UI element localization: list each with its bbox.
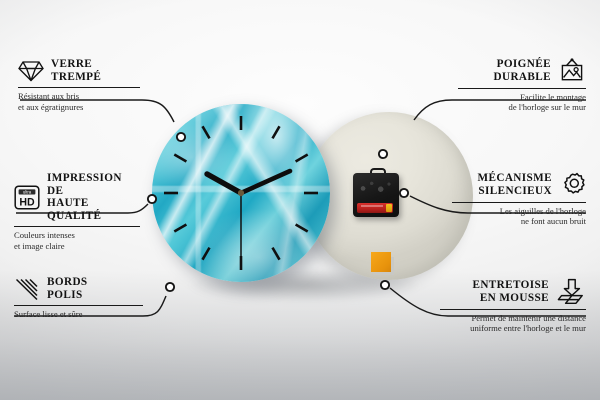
ultra-hd-badge-icon: ultra HD (14, 185, 40, 210)
title-line-2: EN MOUSSE (480, 292, 549, 304)
subtitle-line-1: Couleurs intenses (14, 230, 75, 240)
feature-subtitle: Permet de maintenir une distance uniform… (440, 313, 586, 334)
feature-divider (440, 309, 586, 310)
subtitle-line-1: Surface lisse et sûre (14, 309, 83, 319)
feature-mecanisme-silencieux: MÉCANISME SILENCIEUX Les aiguilles de l'… (452, 172, 586, 227)
quartz-movement (353, 173, 399, 217)
title-line-1: MÉCANISME (478, 172, 552, 184)
title-line-1: IMPRESSION DE (47, 172, 122, 197)
battery-positive-terminal (386, 204, 392, 212)
badge-small-text: ultra (23, 189, 32, 194)
foam-spacer-pad (371, 252, 391, 272)
feature-subtitle: Résistant aux bris et aux égratignures (18, 91, 140, 112)
feature-title-row: BORDS POLIS (14, 276, 143, 301)
feature-entretoise-en-mousse: ENTRETOISE EN MOUSSE Permet de maintenir… (440, 278, 586, 334)
battery (357, 203, 393, 213)
hanging-picture-frame-icon (558, 58, 586, 84)
gear-icon (559, 172, 586, 198)
title-line-2: HAUTE QUALITÉ (47, 197, 101, 222)
feature-title-text: MÉCANISME SILENCIEUX (478, 172, 552, 197)
feature-subtitle: Couleurs intenses et image claire (14, 230, 140, 251)
subtitle-line-1: Permet de maintenir une distance (471, 313, 586, 323)
title-line-1: POIGNÉE (497, 58, 551, 70)
feature-title-text: BORDS POLIS (47, 276, 88, 301)
subtitle-line-2: uniforme entre l'horloge et le mur (470, 323, 586, 333)
subtitle-line-2: et aux égratignures (18, 102, 83, 112)
subtitle-line-1: Résistant aux bris (18, 91, 79, 101)
feature-title-row: POIGNÉE DURABLE (458, 58, 586, 84)
subtitle-line-2: et image claire (14, 241, 65, 251)
diamond-icon (18, 59, 44, 83)
infographic-canvas: VERRE TREMPÉ Résistant aux bris et aux é… (0, 0, 600, 400)
feature-subtitle: Surface lisse et sûre (14, 309, 143, 319)
clock-center-cap (238, 190, 244, 196)
feature-impression-haute-qualite: ultra HD IMPRESSION DE HAUTE QUALITÉ Cou… (14, 172, 140, 251)
feature-subtitle: Facilite le montage de l'horloge sur le … (458, 92, 586, 113)
feature-divider (458, 88, 586, 89)
movement-detail (358, 178, 394, 196)
title-line-1: BORDS (47, 276, 88, 288)
feature-title-text: POIGNÉE DURABLE (493, 58, 551, 83)
title-line-2: TREMPÉ (51, 71, 101, 83)
feature-divider (14, 226, 140, 227)
feature-verre-trempe: VERRE TREMPÉ Résistant aux bris et aux é… (18, 58, 140, 112)
feature-title-row: ENTRETOISE EN MOUSSE (440, 278, 586, 305)
clock-hand-hour (207, 174, 241, 193)
feature-title-text: IMPRESSION DE HAUTE QUALITÉ (47, 172, 140, 222)
title-line-2: SILENCIEUX (478, 185, 552, 197)
feature-poignee-durable: POIGNÉE DURABLE Facilite le montage de l… (458, 58, 586, 113)
battery-label-stripe (361, 205, 383, 207)
title-line-1: ENTRETOISE (472, 279, 549, 291)
feature-divider (14, 305, 143, 306)
feature-divider (18, 87, 140, 88)
feature-divider (452, 202, 586, 203)
feature-bords-polis: BORDS POLIS Surface lisse et sûre (14, 276, 143, 320)
clock-hand-minute (241, 171, 290, 193)
subtitle-line-2: ne font aucun bruit (521, 216, 586, 226)
bevel-edge-lines-icon (14, 277, 40, 301)
clock-hands-and-ticks (152, 104, 330, 282)
feature-title-row: VERRE TREMPÉ (18, 58, 140, 83)
badge-large-text: HD (19, 196, 35, 208)
title-line-2: DURABLE (493, 71, 551, 83)
subtitle-line-1: Facilite le montage (520, 92, 586, 102)
feature-title-text: VERRE TREMPÉ (51, 58, 101, 83)
foam-spacer-arrow-icon (556, 278, 586, 305)
title-line-1: VERRE (51, 58, 92, 70)
feature-subtitle: Les aiguilles de l'horloge ne font aucun… (452, 206, 586, 227)
subtitle-line-2: de l'horloge sur le mur (509, 102, 586, 112)
feature-title-row: MÉCANISME SILENCIEUX (452, 172, 586, 198)
subtitle-line-1: Les aiguilles de l'horloge (500, 206, 586, 216)
feature-title-row: ultra HD IMPRESSION DE HAUTE QUALITÉ (14, 172, 140, 222)
feature-title-text: ENTRETOISE EN MOUSSE (472, 279, 549, 304)
title-line-2: POLIS (47, 289, 83, 301)
